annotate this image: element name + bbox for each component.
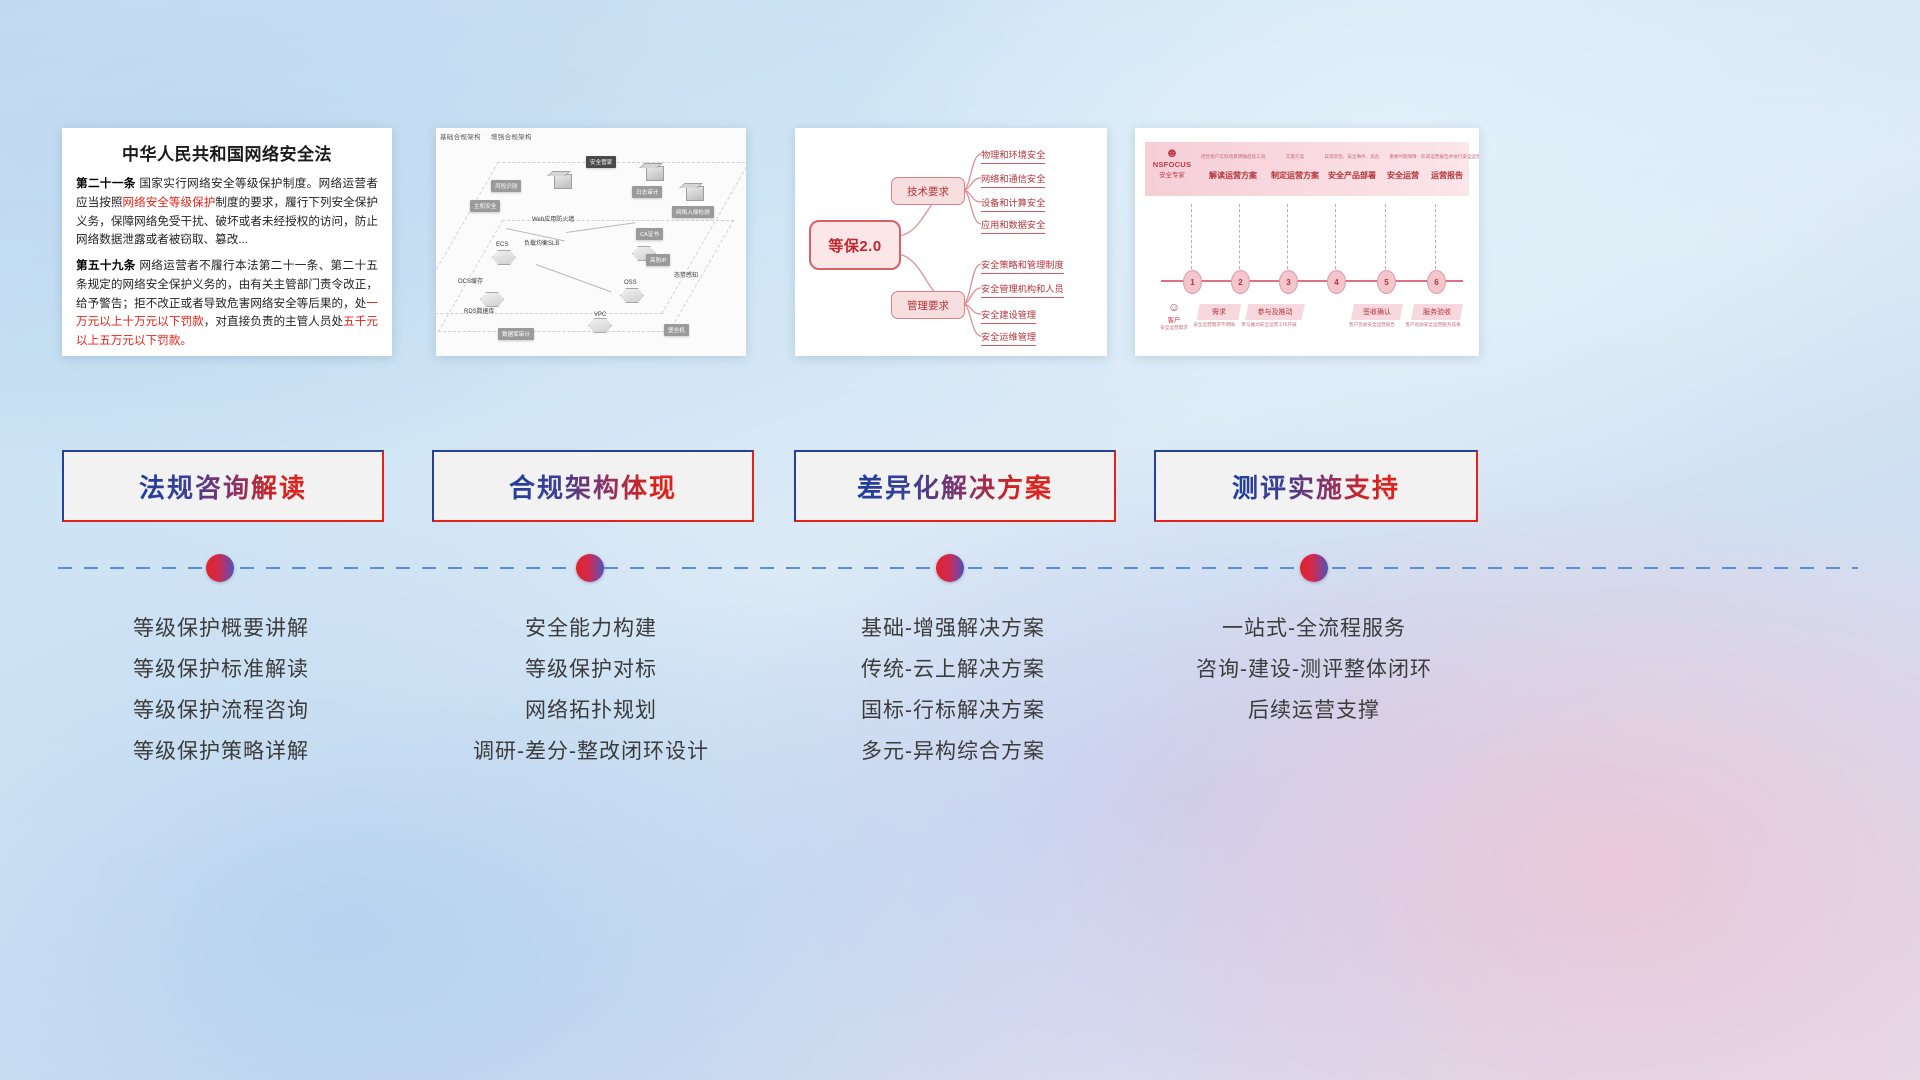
list-item: 传统-云上解决方案 [794, 649, 1112, 690]
roadmap-step-6: 6 [1427, 270, 1446, 294]
right-tag-2-sub: 客户验收安全运营服务成果 [1403, 322, 1463, 328]
person-icon: ☻ [1149, 146, 1195, 159]
diagram-tab-enhanced: 增强合规架构 [491, 134, 532, 141]
stage-5-sub: 形成运营报告并进行安全运营总结 [1421, 154, 1473, 160]
headline-box-solution[interactable]: 差异化解决方案 [794, 450, 1116, 522]
service-column-assessment: 一站式-全流程服务 咨询-建设-测评整体闭环 后续运营支撑 [1154, 608, 1474, 731]
left-tag-2-title: 参与及推动 [1245, 304, 1305, 320]
roadmap-drop-3 [1287, 204, 1288, 274]
list-item: 等级保护策略详解 [62, 731, 380, 772]
roadmap-drop-2 [1239, 204, 1240, 274]
headline-label-solution: 差异化解决方案 [857, 468, 1053, 505]
label-ocs: OCS缓存 [458, 276, 483, 285]
list-item: 调研-差分-整改闭环设计 [432, 731, 750, 772]
network-diagram: 基础合规架构 增强合规架构 安全管家 风险识别 主机安全 日志审计 网络入侵检测… [436, 128, 746, 356]
list-item: 等级保护概要讲解 [62, 608, 380, 649]
right-tag-1-sub: 客户签收安全运营报告 [1343, 322, 1401, 328]
left-tag-1-title: 需求 [1197, 304, 1241, 320]
roadmap-step-1: 1 [1183, 270, 1202, 294]
mindmap-leaf-policy: 安全策略和管理制度 [981, 257, 1064, 274]
list-item: 等级保护对标 [432, 649, 750, 690]
mindmap-leaf-network: 网络和通信安全 [981, 171, 1045, 188]
stage-2-sub: 实施方案 [1269, 154, 1321, 160]
list-item: 网络拓扑规划 [432, 690, 750, 731]
list-item: 多元-异构综合方案 [794, 731, 1112, 772]
mindmap-leaf-physical: 物理和环境安全 [981, 147, 1045, 164]
mindmap-root-node: 等保2.0 [809, 220, 901, 270]
cube-icon-3 [686, 186, 704, 201]
article-21-label: 第二十一条 [76, 177, 136, 190]
card-cybersecurity-law: 中华人民共和国网络安全法 第二十一条 国家实行网络安全等级保护制度。网络运营者应… [62, 128, 392, 356]
mindmap-leaf-org: 安全管理机构和人员 [981, 281, 1064, 298]
node-host-security: 主机安全 [470, 200, 500, 212]
nsfocus-logo-role: 安全专家 [1149, 170, 1195, 179]
diagram-tab-basic: 基础合规架构 [440, 134, 481, 141]
headline-box-architecture[interactable]: 合规架构体现 [432, 450, 754, 522]
headline-label-regulation: 法规咨询解读 [139, 468, 307, 505]
list-item: 等级保护标准解读 [62, 649, 380, 690]
headline-label-architecture: 合规架构体现 [509, 468, 677, 505]
mindmap-leaf-device: 设备和计算安全 [981, 195, 1045, 212]
stage-3-title: 安全产品部署 [1323, 170, 1381, 181]
slide-canvas: 中华人民共和国网络安全法 第二十一条 国家实行网络安全等级保护制度。网络运营者应… [0, 0, 1920, 1080]
roadmap-step-3: 3 [1279, 270, 1298, 294]
roadmap-drop-5 [1385, 204, 1386, 274]
label-rds: RDS数据库 [464, 306, 495, 315]
list-item: 一站式-全流程服务 [1154, 608, 1474, 649]
roadmap-drop-6 [1435, 204, 1436, 274]
node-risk-identify: 风险识别 [491, 180, 521, 192]
stage-1-title: 解读运营方案 [1201, 170, 1265, 181]
label-situation: 态势感知 [674, 270, 698, 279]
timeline-dot-2 [576, 554, 604, 582]
mindmap-leaf-construction: 安全建设管理 [981, 307, 1036, 324]
roadmap-step-2: 2 [1231, 270, 1250, 294]
stage-2-title: 制定运营方案 [1269, 170, 1321, 181]
diagram-tabs: 基础合规架构 增强合规架构 [440, 131, 540, 141]
article-59-text-2: ，对直接负责的主管人员处 [204, 315, 343, 328]
roadmap: ☻ NSFOCUS 安全专家 结合客户实际场景明确后续工具 解读运营方案 实施方… [1135, 128, 1479, 356]
node-ids: 网络入侵检测 [672, 206, 714, 218]
stage-5-title: 运营报告 [1421, 170, 1473, 181]
roadmap-step-5: 5 [1377, 270, 1396, 294]
service-column-architecture: 安全能力构建 等级保护对标 网络拓扑规划 调研-差分-整改闭环设计 [432, 608, 750, 772]
timeline-dot-1 [206, 554, 234, 582]
timeline-dot-4 [1300, 554, 1328, 582]
left-tag-2-sub: 参与推动安全运营工作开展 [1239, 322, 1299, 328]
node-anti-ddos: 高防IP [646, 254, 670, 266]
nsfocus-logo: ☻ NSFOCUS 安全专家 [1149, 146, 1195, 179]
list-item: 国标-行标解决方案 [794, 690, 1112, 731]
label-waf: Web应用防火墙 [532, 214, 574, 223]
article-59-label: 第五十九条 [76, 259, 136, 272]
roadmap-step-4: 4 [1327, 270, 1346, 294]
mindmap-branch-technical: 技术要求 [891, 177, 965, 205]
service-column-regulation: 等级保护概要讲解 等级保护标准解读 等级保护流程咨询 等级保护策略详解 [62, 608, 380, 772]
timeline-dot-3 [936, 554, 964, 582]
list-item: 咨询-建设-测评整体闭环 [1154, 649, 1474, 690]
card-mindmap-dengbao: 等保2.0 技术要求 物理和环境安全 网络和通信安全 设备和计算安全 应用和数据… [795, 128, 1107, 356]
law-title: 中华人民共和国网络安全法 [76, 140, 378, 165]
stage-1-sub: 结合客户实际场景明确后续工具 [1201, 154, 1265, 160]
node-db-audit: 数据库审计 [498, 328, 534, 340]
node-security-steward: 安全管家 [586, 156, 616, 168]
list-item: 基础-增强解决方案 [794, 608, 1112, 649]
roadmap-drop-1 [1191, 204, 1192, 274]
law-content: 中华人民共和国网络安全法 第二十一条 国家实行网络安全等级保护制度。网络运营者应… [62, 128, 392, 356]
law-article-21: 第二十一条 国家实行网络安全等级保护制度。网络运营者应当按照网络安全等级保护制度… [76, 175, 378, 250]
node-bastion: 堡垒机 [664, 324, 689, 336]
left-tag-1-sub: 安全运营需求不明确 [1191, 322, 1237, 328]
article-21-highlight: 网络安全等级保护 [122, 196, 215, 209]
roadmap-drop-4 [1335, 204, 1336, 274]
card-nsfocus-roadmap: ☻ NSFOCUS 安全专家 结合客户实际场景明确后续工具 解读运营方案 实施方… [1135, 128, 1479, 356]
stage-3-sub: 日常巡检、安全事件、高危 [1323, 154, 1381, 160]
node-ca-cert: CA证书 [636, 228, 663, 240]
list-item: 安全能力构建 [432, 608, 750, 649]
node-log-audit: 日志审计 [632, 186, 662, 198]
cube-icon-2 [646, 166, 664, 181]
headline-box-regulation[interactable]: 法规咨询解读 [62, 450, 384, 522]
client-icon: ☺ [1151, 300, 1197, 314]
list-item: 等级保护流程咨询 [62, 690, 380, 731]
nsfocus-logo-name: NSFOCUS [1149, 160, 1195, 169]
label-oss: OSS [624, 280, 637, 286]
mindmap-branch-management: 管理要求 [891, 291, 965, 319]
list-item: 后续运营支撑 [1154, 690, 1474, 731]
headline-box-assessment[interactable]: 测评实施支持 [1154, 450, 1478, 522]
stage-4-sub: 重要时期保障 [1381, 154, 1425, 160]
right-tag-2-title: 服务验收 [1411, 304, 1463, 320]
label-ecs: ECS [496, 242, 508, 248]
headline-label-assessment: 测评实施支持 [1232, 468, 1400, 505]
label-vpc: VPC [594, 312, 606, 318]
mindmap: 等保2.0 技术要求 物理和环境安全 网络和通信安全 设备和计算安全 应用和数据… [795, 128, 1107, 356]
mindmap-leaf-operation: 安全运维管理 [981, 329, 1036, 346]
service-column-solution: 基础-增强解决方案 传统-云上解决方案 国标-行标解决方案 多元-异构综合方案 [794, 608, 1112, 772]
stage-4-title: 安全运营 [1381, 170, 1425, 181]
mindmap-leaf-application: 应用和数据安全 [981, 217, 1045, 234]
card-network-architecture: 基础合规架构 增强合规架构 安全管家 风险识别 主机安全 日志审计 网络入侵检测… [436, 128, 746, 356]
law-article-59: 第五十九条 网络运营者不履行本法第二十一条、第二十五条规定的网络安全保护义务的，… [76, 257, 378, 351]
roadmap-axis [1161, 280, 1463, 282]
cube-icon-1 [554, 174, 572, 189]
right-tag-1-title: 签收确认 [1351, 304, 1403, 320]
